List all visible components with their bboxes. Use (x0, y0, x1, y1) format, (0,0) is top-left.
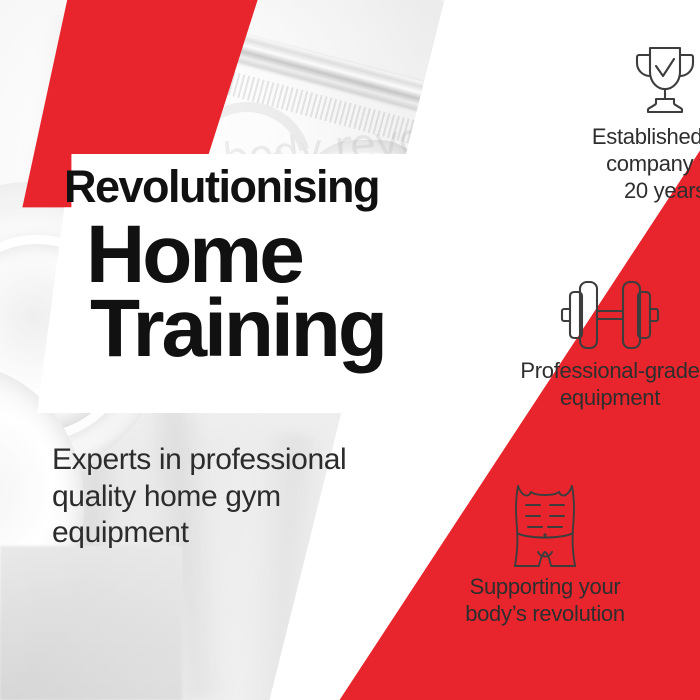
subtitle-text: Experts in professional quality home gym… (52, 442, 412, 552)
feature-item-body: Supporting your body’s revolution (425, 478, 665, 628)
feature-caption-line-3: 20 years (565, 178, 700, 205)
feature-caption-line-1: Professional-grade (495, 358, 700, 385)
feature-caption-line-1: Established UK (565, 124, 700, 151)
dumbbell-icon (495, 272, 700, 358)
feature-caption-line-2: body’s revolution (425, 601, 665, 628)
feature-item-established: Established UK company for 20 years (565, 38, 700, 204)
feature-caption: Established UK company for 20 years (565, 124, 700, 204)
feature-caption: Supporting your body’s revolution (425, 574, 665, 628)
advertisement-banner: body revolution Revolutionising Home Tra… (0, 0, 700, 700)
trophy-check-icon (565, 38, 700, 124)
features-list: Established UK company for 20 years (395, 0, 700, 700)
feature-caption-line-1: Supporting your (425, 574, 665, 601)
torso-abs-icon (425, 478, 665, 574)
feature-item-equipment: Professional-grade equipment (495, 272, 700, 412)
feature-caption-line-2: company for (565, 151, 700, 178)
feature-caption: Professional-grade equipment (495, 358, 700, 412)
feature-caption-line-2: equipment (495, 385, 700, 412)
